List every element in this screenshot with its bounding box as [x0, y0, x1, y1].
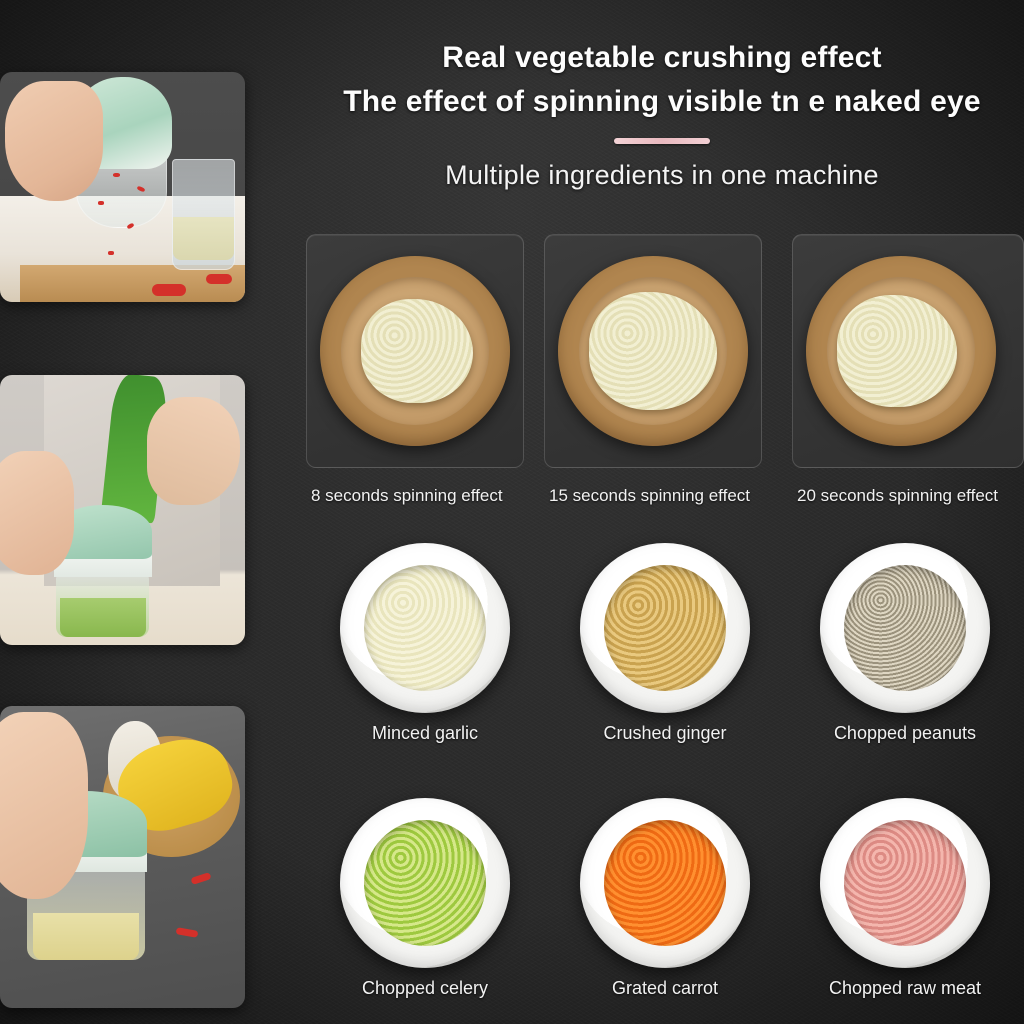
- ingredient-caption: Chopped peanuts: [805, 723, 1005, 744]
- bowl: [580, 798, 750, 968]
- bowl: [820, 543, 990, 713]
- ingredient-cell-crushed-ginger: Crushed ginger: [565, 543, 765, 744]
- ingredient-caption: Crushed ginger: [565, 723, 765, 744]
- spinning-caption-15s: 15 seconds spinning effect: [549, 486, 750, 506]
- ingredient-cell-chopped-celery: Chopped celery: [325, 798, 525, 999]
- ingredient-caption: Chopped celery: [325, 978, 525, 999]
- ingredient-cell-grated-carrot: Grated carrot: [565, 798, 765, 999]
- spinning-caption-20s: 20 seconds spinning effect: [797, 486, 998, 506]
- food-crushed-ginger: [604, 565, 726, 691]
- chopper-chili-photo: [0, 72, 245, 302]
- ingredient-cell-chopped-peanuts: Chopped peanuts: [805, 543, 1005, 744]
- ingredient-caption: Grated carrot: [565, 978, 765, 999]
- food-chopped-raw-meat: [844, 820, 966, 946]
- bowl: [340, 543, 510, 713]
- headline-block: Real vegetable crushing effect The effec…: [300, 36, 1024, 191]
- food-chopped-celery: [364, 820, 486, 946]
- bowl: [580, 543, 750, 713]
- ingredient-caption: Chopped raw meat: [805, 978, 1005, 999]
- food-chopped-peanuts: [844, 565, 966, 691]
- spinning-caption-8s: 8 seconds spinning effect: [311, 486, 503, 506]
- ingredient-cell-minced-garlic: Minced garlic: [325, 543, 525, 744]
- subtitle: Multiple ingredients in one machine: [300, 160, 1024, 191]
- wooden-plate: [320, 256, 510, 446]
- spinning-panel-15s: [544, 234, 762, 468]
- divider-rule: [614, 138, 710, 144]
- bowl: [340, 798, 510, 968]
- ingredient-caption: Minced garlic: [325, 723, 525, 744]
- minced-garlic-pile: [837, 295, 957, 407]
- food-grated-carrot: [604, 820, 726, 946]
- minced-garlic-pile: [361, 299, 473, 403]
- wooden-plate: [558, 256, 748, 446]
- headline-secondary: The effect of spinning visible tn e nake…: [300, 80, 1024, 124]
- wooden-plate: [806, 256, 996, 446]
- ingredient-cell-chopped-raw-meat: Chopped raw meat: [805, 798, 1005, 999]
- chopper-garlic-photo: [0, 706, 245, 1008]
- bowl: [820, 798, 990, 968]
- headline-primary: Real vegetable crushing effect: [300, 36, 1024, 80]
- spinning-panel-20s: [792, 234, 1024, 468]
- chopper-chives-photo: [0, 375, 245, 645]
- food-minced-garlic: [364, 565, 486, 691]
- spinning-panel-8s: [306, 234, 524, 468]
- minced-garlic-pile: [589, 292, 717, 410]
